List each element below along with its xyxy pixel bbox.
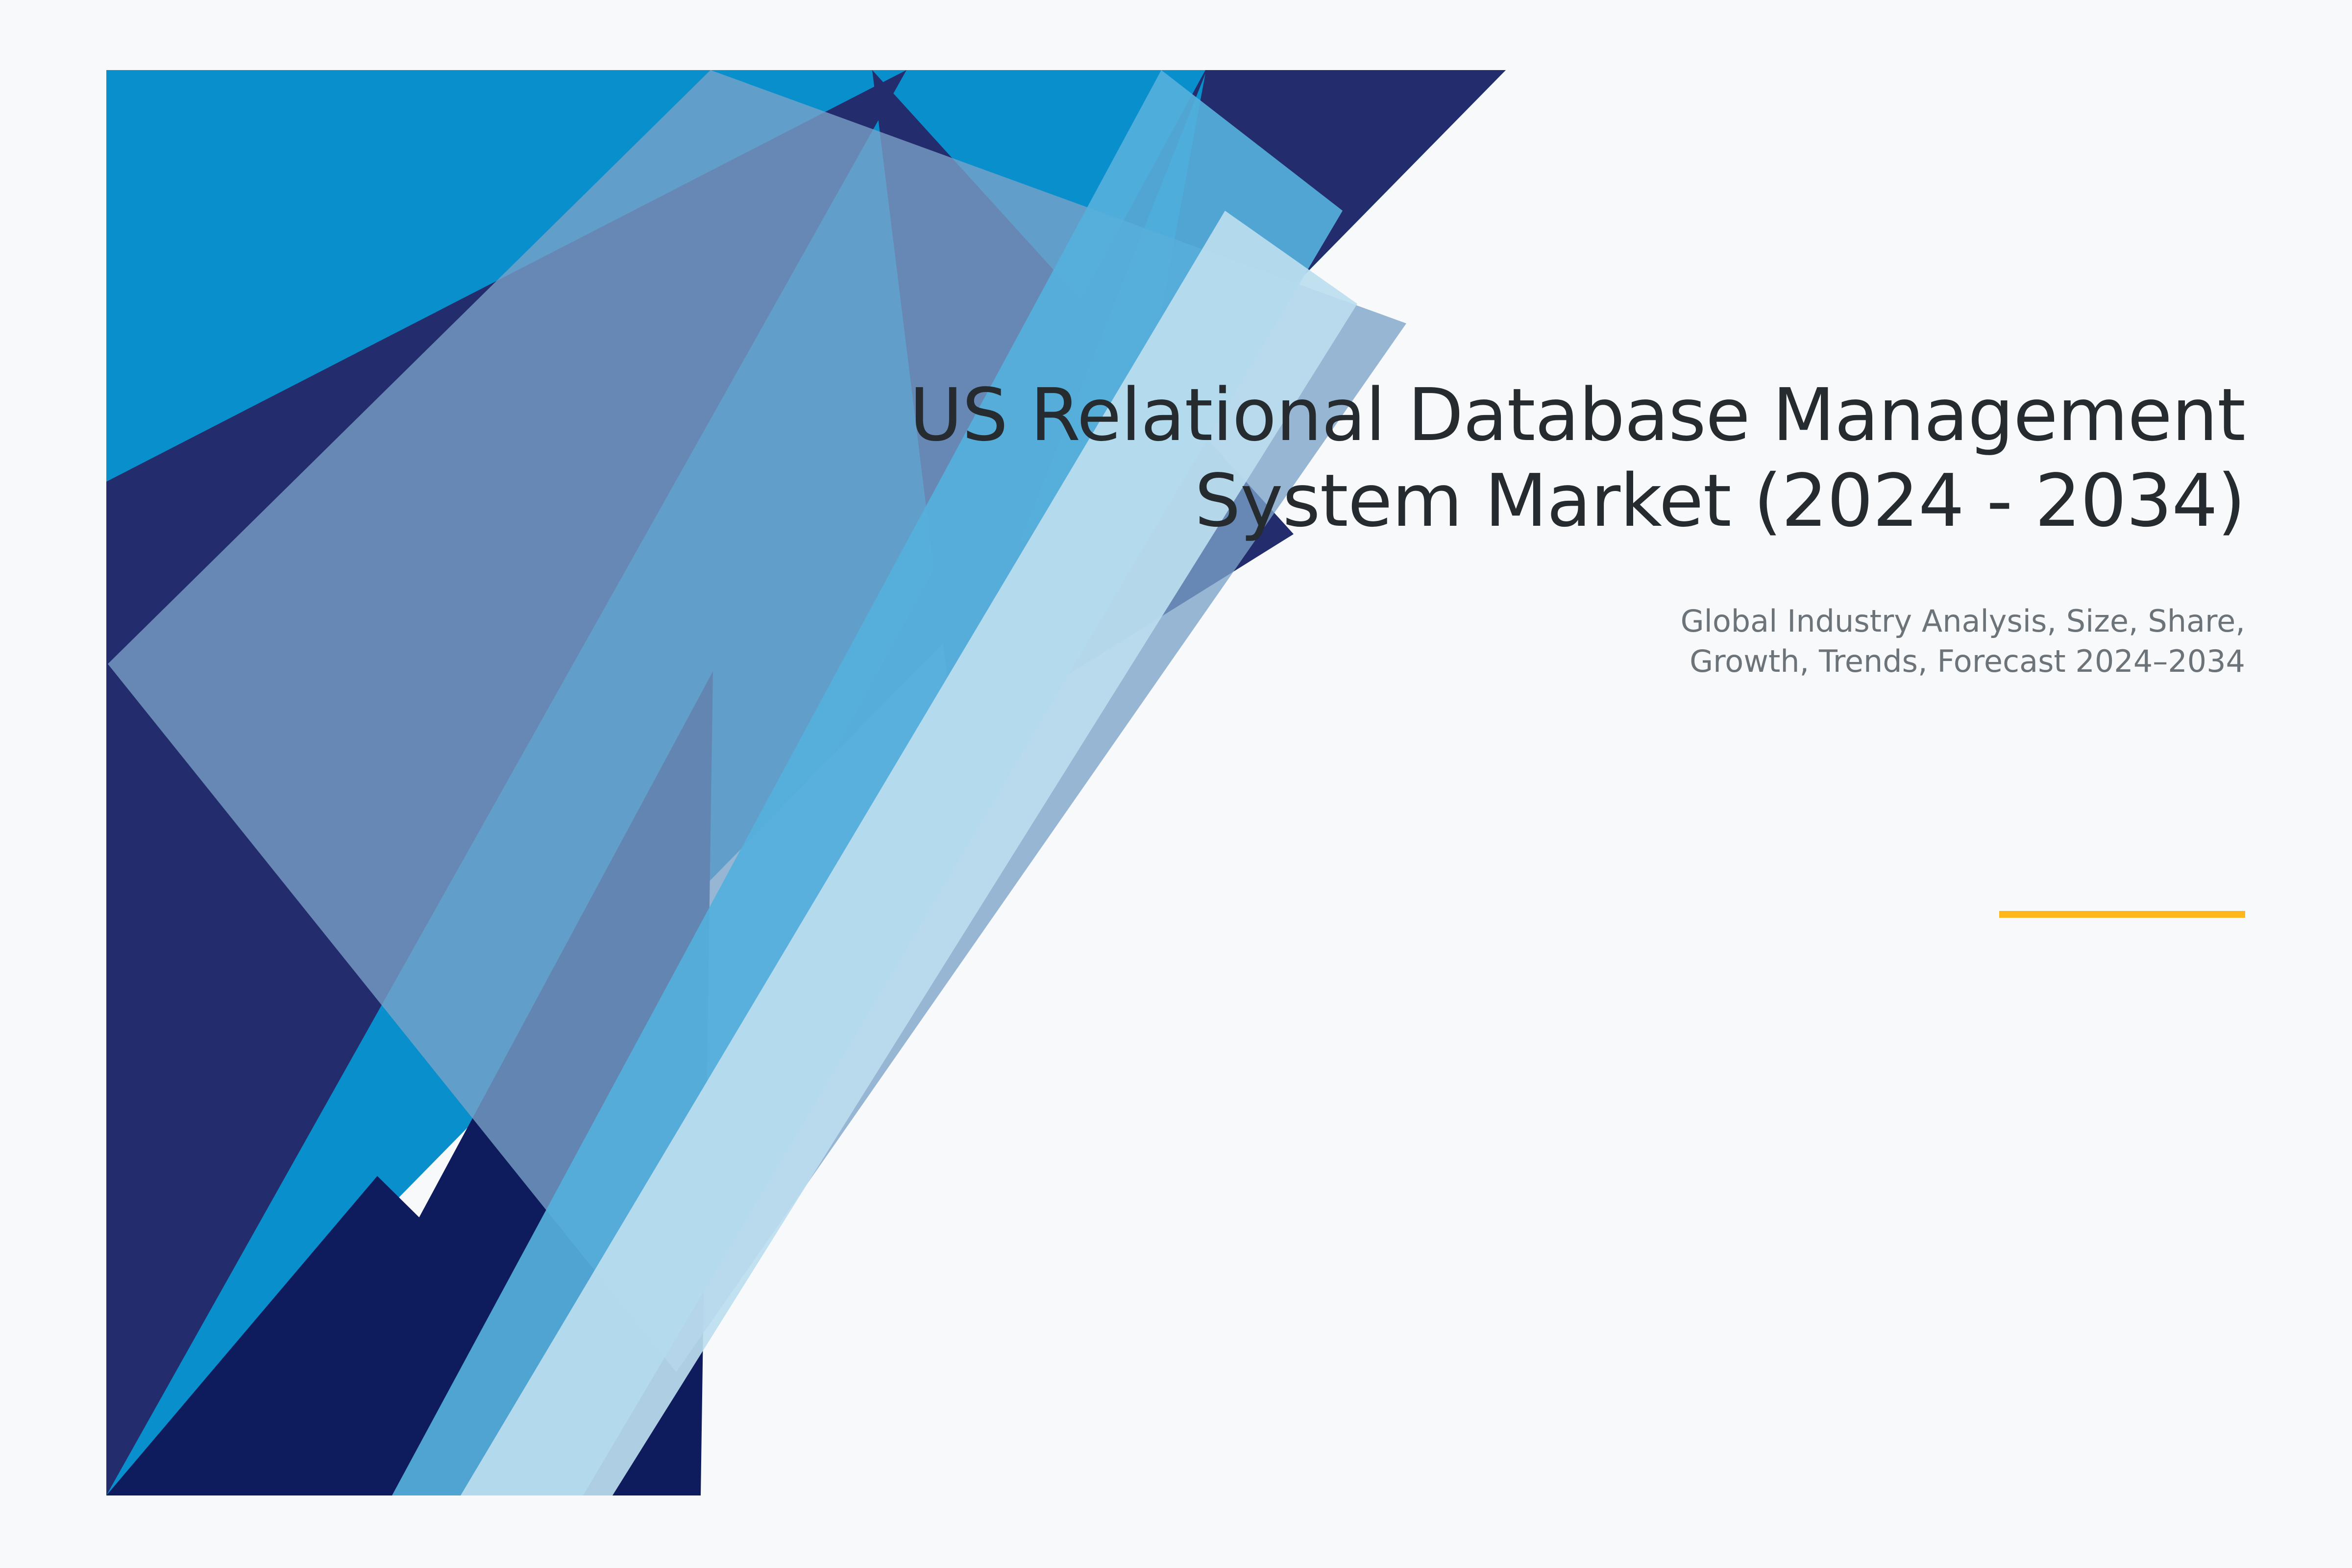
page-subtitle: Global Industry Analysis, Size, Share, G… — [775, 601, 2245, 682]
report-cover: US Relational Database Management System… — [0, 0, 2352, 1568]
page-title: US Relational Database Management System… — [775, 372, 2245, 543]
shape-cyan-base-panel — [106, 70, 1506, 1495]
shape-sky-blue-beam — [392, 70, 1343, 1495]
cover-text-block: US Relational Database Management System… — [775, 372, 2245, 682]
title-accent-underline — [1999, 911, 2245, 918]
shape-deep-navy-foot — [106, 1176, 701, 1495]
abstract-geometric-artwork — [0, 0, 2352, 1568]
shape-steel-blue-overlay — [108, 70, 1406, 1372]
shape-deep-navy-blade — [269, 671, 713, 1495]
shape-navy-left-sweep — [106, 70, 906, 1495]
